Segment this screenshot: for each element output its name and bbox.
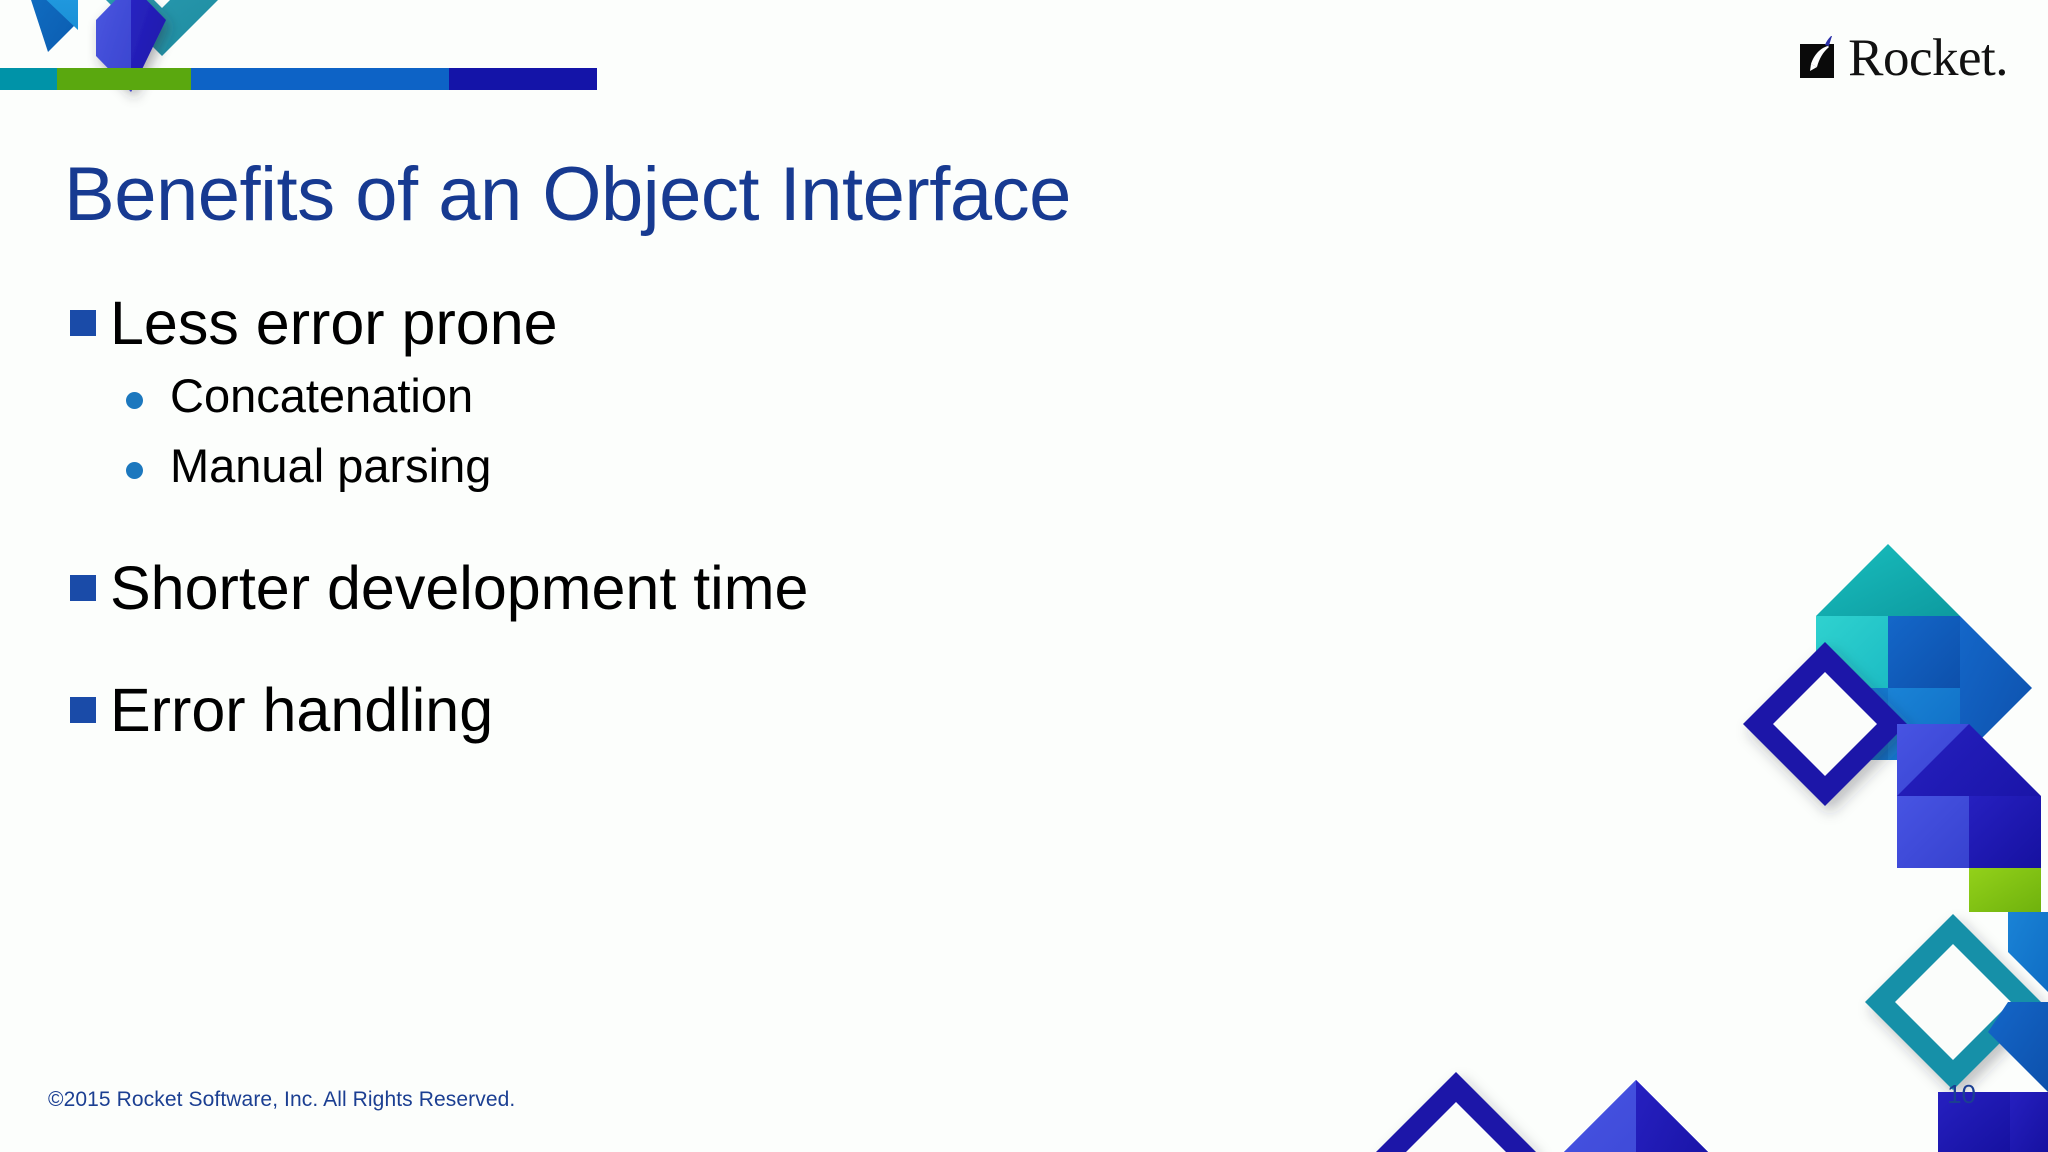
diamond-cluster-lower-right <box>1938 912 2048 1152</box>
rocket-logo-icon <box>1798 34 1844 80</box>
page-number: 10 <box>1947 1079 1976 1110</box>
bullet-square-icon <box>70 310 96 336</box>
top-left-decoration <box>0 0 340 130</box>
chevron-teal-icon <box>96 0 228 56</box>
bullet-square-icon <box>70 575 96 601</box>
rocket-logo: Rocket. <box>1798 34 2008 80</box>
diamond-cluster-indigo <box>1897 724 2041 912</box>
rule-segment-navy <box>449 68 597 90</box>
spacer <box>70 509 1470 553</box>
bullet-label: Less error prone <box>110 288 558 360</box>
diamond-cluster-upper <box>1816 544 2032 760</box>
bullet-label: Shorter development time <box>110 553 808 625</box>
bullet-label: Error handling <box>110 675 493 747</box>
sub-bullet-item: Concatenation <box>126 368 1470 424</box>
sub-bullet-group: Concatenation Manual parsing <box>126 368 1470 495</box>
bullet-item: Error handling <box>70 675 1470 747</box>
bullet-item: Shorter development time <box>70 553 1470 625</box>
bullet-item: Less error prone <box>70 288 1470 360</box>
sub-bullet-label: Manual parsing <box>170 438 491 494</box>
copyright-text: ©2015 Rocket Software, Inc. All Rights R… <box>48 1088 515 1112</box>
bullet-dot-icon <box>126 462 143 479</box>
slide-canvas: Rocket. Benefits of an Object Interface … <box>0 0 2048 1152</box>
slide-title: Benefits of an Object Interface <box>64 155 1071 235</box>
rule-segment-teal <box>0 68 57 90</box>
diamond-outline-teal-icon <box>1865 914 2041 1090</box>
diamond-outline-navy-icon <box>1743 642 1907 806</box>
sub-bullet-label: Concatenation <box>170 368 473 424</box>
rule-segment-green <box>57 68 191 90</box>
diamond-indigo-bottom <box>1564 1080 1708 1152</box>
rocket-wordmark: Rocket. <box>1848 37 2008 80</box>
diamond-outline-navy-small-icon <box>1376 1072 1536 1152</box>
header-rule-bar <box>0 68 597 90</box>
sub-bullet-item: Manual parsing <box>126 438 1470 494</box>
spacer <box>70 631 1470 675</box>
bullet-dot-icon <box>126 392 143 409</box>
slide-body: Less error prone Concatenation Manual pa… <box>70 288 1470 753</box>
bullet-square-icon <box>70 697 96 723</box>
rule-segment-blue <box>191 68 449 90</box>
chevron-left-icon <box>18 0 78 52</box>
